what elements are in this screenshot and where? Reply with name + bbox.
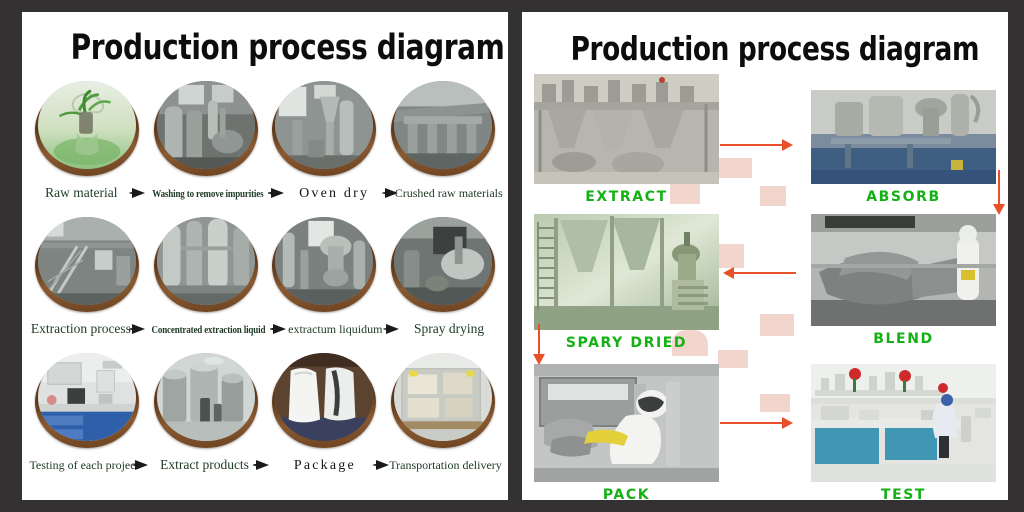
absorb-photo <box>811 90 996 184</box>
circle-steps-grid: Raw material Washing to remove impuritie… <box>22 76 508 484</box>
extract-photo <box>534 74 719 184</box>
crushed-raw-materials-photo <box>394 81 492 169</box>
step-label: Raw material <box>45 185 117 201</box>
testing-laboratory-photo <box>38 353 136 441</box>
step-label: Oven dry <box>299 186 369 202</box>
step-label: Testing of each project <box>29 458 138 473</box>
photo-caption: PACK <box>534 482 719 500</box>
step-label-wrap: Extract products <box>149 456 261 474</box>
flow-arrow-spary-dried-to-pack <box>538 324 540 354</box>
photo-caption: SPARY DRIED <box>534 330 719 356</box>
photo-step-spary-dried[interactable]: SPARY DRIED <box>534 214 719 364</box>
step-label: Washing to remove impurities <box>152 188 263 200</box>
extractum-liquidum-photo <box>275 217 373 305</box>
flow-arrow-absorb-to-blend <box>998 170 1000 204</box>
photo-caption: EXTRACT <box>534 184 719 210</box>
circle-step-cell[interactable] <box>387 212 499 316</box>
spary-dried-photo <box>534 214 719 330</box>
arrow-right-icon <box>256 460 269 470</box>
step-label-wrap: extractum liquidum <box>279 320 391 338</box>
circle-step-cell[interactable] <box>268 212 380 316</box>
step-label-wrap: Oven dry <box>278 184 390 202</box>
photo-row: SPARY DRIED <box>534 214 996 364</box>
step-label-wrap: Transportation delivery <box>389 456 502 474</box>
circle-step-cell[interactable] <box>31 212 143 316</box>
flow-arrow-pack-to-test <box>720 422 782 424</box>
pack-photo <box>534 364 719 482</box>
right-diagram-panel: Production process diagram <box>522 12 1008 500</box>
step-label: Spray drying <box>414 321 484 337</box>
washing-tanks-photo <box>157 81 255 169</box>
step-label: Crushed raw materials <box>395 186 503 201</box>
left-panel-title: Production process diagram <box>71 28 460 68</box>
left-diagram-panel: Production process diagram <box>22 12 508 500</box>
photo-flow-grid: EXTRACT <box>522 74 1008 500</box>
circle-row: Raw material Washing to remove impuritie… <box>22 76 508 212</box>
photo-caption: ABSORB <box>811 184 996 210</box>
photo-step-test[interactable]: TEST <box>811 364 996 500</box>
circle-step-cell[interactable] <box>150 348 262 452</box>
spray-drying-photo <box>394 217 492 305</box>
step-label: Package <box>294 458 356 474</box>
circle-row: Extraction process Concentrated extracti… <box>22 212 508 348</box>
step-label-wrap: Washing to remove impurities <box>140 184 276 202</box>
photo-caption: BLEND <box>811 326 996 352</box>
step-label: Extraction process <box>31 321 131 337</box>
circle-step-cell[interactable] <box>150 76 262 180</box>
step-label-wrap: Raw material <box>25 184 137 202</box>
arrow-right-icon <box>376 460 389 470</box>
extraction-process-photo <box>38 217 136 305</box>
transportation-cargo-photo <box>394 353 492 441</box>
step-label-wrap: Package <box>269 456 381 474</box>
photo-step-extract[interactable]: EXTRACT <box>534 74 719 214</box>
package-bags-photo <box>275 353 373 441</box>
step-label: Transportation delivery <box>389 458 502 473</box>
photo-caption: TEST <box>811 482 996 500</box>
circle-step-cell[interactable] <box>387 348 499 452</box>
concentrated-liquid-photo <box>157 217 255 305</box>
arrow-right-icon <box>135 460 148 470</box>
test-photo <box>811 364 996 482</box>
oven-dry-photo <box>275 81 373 169</box>
extract-products-photo <box>157 353 255 441</box>
step-label-wrap: Extraction process <box>25 320 137 338</box>
circle-step-cell[interactable] <box>268 348 380 452</box>
circle-step-cell[interactable] <box>150 212 262 316</box>
photo-step-pack[interactable]: PACK <box>534 364 719 500</box>
screenshot-root: Production process diagram <box>0 0 1024 512</box>
step-label: Extract products <box>160 457 249 473</box>
step-label: Concentrated extraction liquid <box>151 324 265 336</box>
circle-step-cell[interactable] <box>31 348 143 452</box>
raw-material-photo <box>38 81 136 169</box>
circle-step-cell[interactable] <box>31 76 143 180</box>
step-label: extractum liquidum <box>288 322 382 337</box>
step-label-wrap: Testing of each project <box>28 456 140 474</box>
step-label-wrap: Crushed raw materials <box>393 184 505 202</box>
step-label-wrap: Concentrated extraction liquid <box>139 320 278 338</box>
circle-step-cell[interactable] <box>268 76 380 180</box>
right-panel-title: Production process diagram <box>571 30 960 68</box>
step-label-wrap: Spray drying <box>393 320 505 338</box>
photo-step-absorb[interactable]: ABSORB <box>811 74 996 214</box>
circle-step-cell[interactable] <box>387 76 499 180</box>
photo-step-blend[interactable]: BLEND <box>811 214 996 364</box>
photo-row: PACK <box>534 364 996 500</box>
flow-arrow-extract-to-absorb <box>720 144 782 146</box>
blend-photo <box>811 214 996 326</box>
photo-row: EXTRACT <box>534 74 996 214</box>
circle-row: Testing of each project Extract products… <box>22 348 508 484</box>
flow-arrow-blend-to-spary-dried <box>734 272 796 274</box>
